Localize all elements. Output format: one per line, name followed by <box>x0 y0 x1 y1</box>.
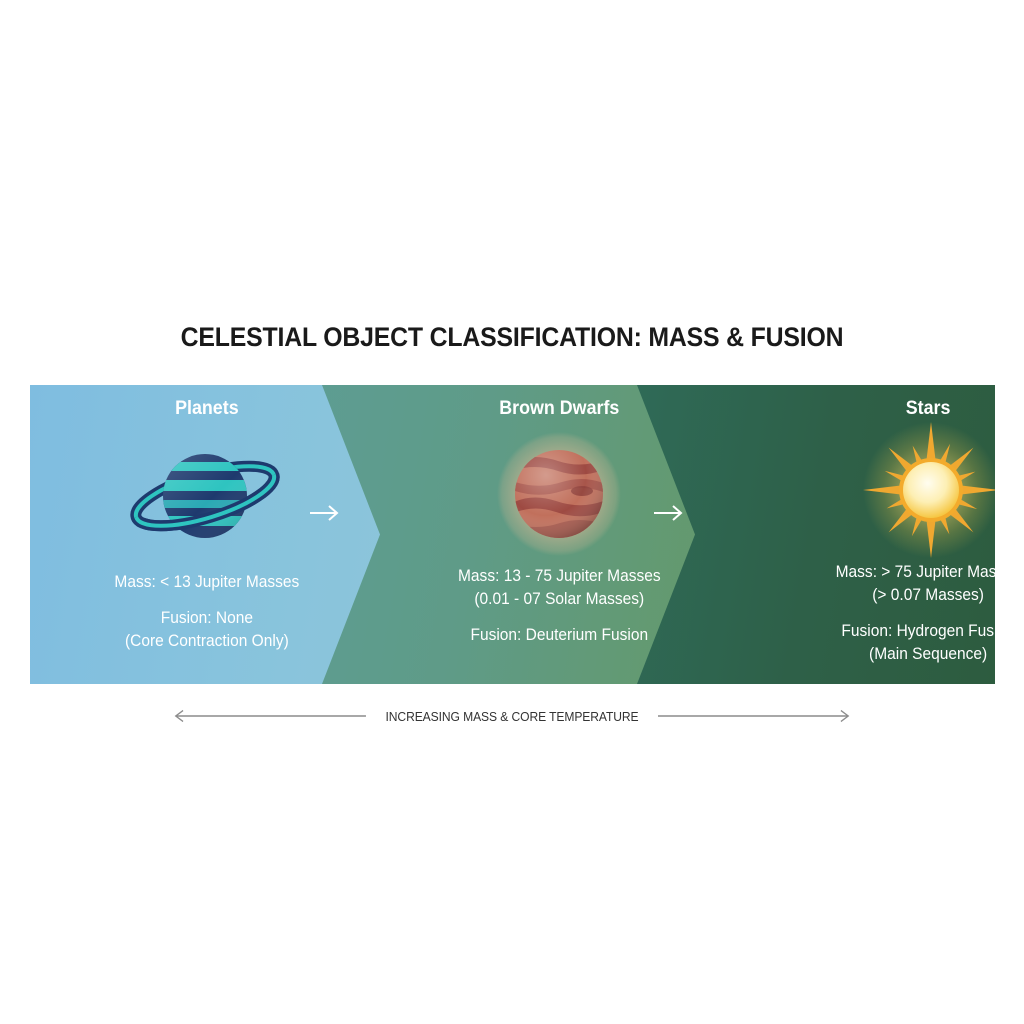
planets-fusion-line: Fusion: None <box>42 607 371 630</box>
classification-band: Planets <box>30 385 995 684</box>
panel-planets[interactable]: Planets <box>30 385 380 684</box>
planets-mass-line: Mass: < 13 Jupiter Masses <box>42 571 371 594</box>
stars-mass-line: Mass: > 75 Jupiter Masses <box>760 561 995 584</box>
arrow-right-icon <box>308 500 342 526</box>
axis-right-arrow-icon <box>658 709 854 723</box>
panel-text-stars: Mass: > 75 Jupiter Masses (> 0.07 Masses… <box>652 561 995 666</box>
page-title: CELESTIAL OBJECT CLASSIFICATION: MASS & … <box>41 322 983 353</box>
infographic-canvas: CELESTIAL OBJECT CLASSIFICATION: MASS & … <box>0 0 1024 1024</box>
stars-fusion-note: (Main Sequence) <box>760 643 995 666</box>
stars-mass-note: (> 0.07 Masses) <box>760 584 995 607</box>
axis-left-arrow-icon <box>170 709 366 723</box>
mass-temperature-axis: INCREASING MASS & CORE TEMPERATURE <box>170 702 854 730</box>
stars-fusion-line: Fusion: Hydrogen Fusion <box>760 620 995 643</box>
arrow-right-icon <box>652 500 686 526</box>
panel-title-stars: Stars <box>652 398 995 420</box>
axis-label: INCREASING MASS & CORE TEMPERATURE <box>385 709 638 724</box>
planets-fusion-note: (Core Contraction Only) <box>42 630 371 653</box>
